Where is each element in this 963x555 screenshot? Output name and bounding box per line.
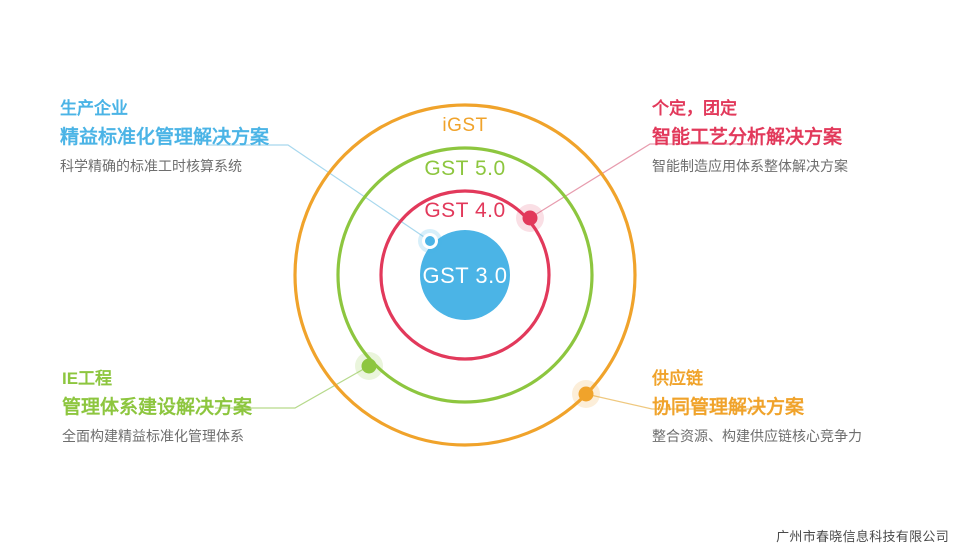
callout-supply: 供应链 协同管理解决方案 整合资源、构建供应链核心竞争力 (652, 366, 862, 447)
callout-production-kicker: 生产企业 (60, 96, 269, 122)
diagram-canvas: iGST GST 5.0 GST 4.0 GST 3.0 生产企业 精益标准化管… (0, 0, 963, 555)
callout-process: 个定，团定 智能工艺分析解决方案 智能制造应用体系整体解决方案 (652, 96, 848, 177)
ring-label-igst: iGST (442, 115, 487, 137)
callout-production-title: 精益标准化管理解决方案 (60, 125, 269, 152)
callout-ie: IE工程 管理体系建设解决方案 全面构建精益标准化管理体系 (62, 366, 252, 447)
ring-label-gst50: GST 5.0 (424, 157, 505, 181)
callout-process-desc: 智能制造应用体系整体解决方案 (652, 157, 848, 177)
ring-label-gst40: GST 4.0 (424, 199, 505, 223)
callout-production-desc: 科学精确的标准工时核算系统 (60, 157, 269, 177)
callout-production: 生产企业 精益标准化管理解决方案 科学精确的标准工时核算系统 (60, 96, 269, 177)
node-marker-green[interactable] (355, 352, 383, 380)
node-marker-orange[interactable] (572, 380, 600, 408)
callout-process-kicker: 个定，团定 (652, 96, 848, 122)
callout-ie-desc: 全面构建精益标准化管理体系 (62, 427, 252, 447)
callout-process-title: 智能工艺分析解决方案 (652, 125, 848, 152)
node-marker-blue[interactable] (418, 229, 442, 253)
callout-ie-title: 管理体系建设解决方案 (62, 395, 252, 422)
callout-ie-kicker: IE工程 (62, 366, 252, 392)
callout-supply-title: 协同管理解决方案 (652, 395, 862, 422)
node-marker-red[interactable] (516, 204, 544, 232)
footer-company-name: 广州市春晓信息科技有限公司 (776, 526, 949, 545)
callout-supply-kicker: 供应链 (652, 366, 862, 392)
callout-supply-desc: 整合资源、构建供应链核心竞争力 (652, 427, 862, 447)
ring-label-gst30: GST 3.0 (422, 263, 507, 289)
